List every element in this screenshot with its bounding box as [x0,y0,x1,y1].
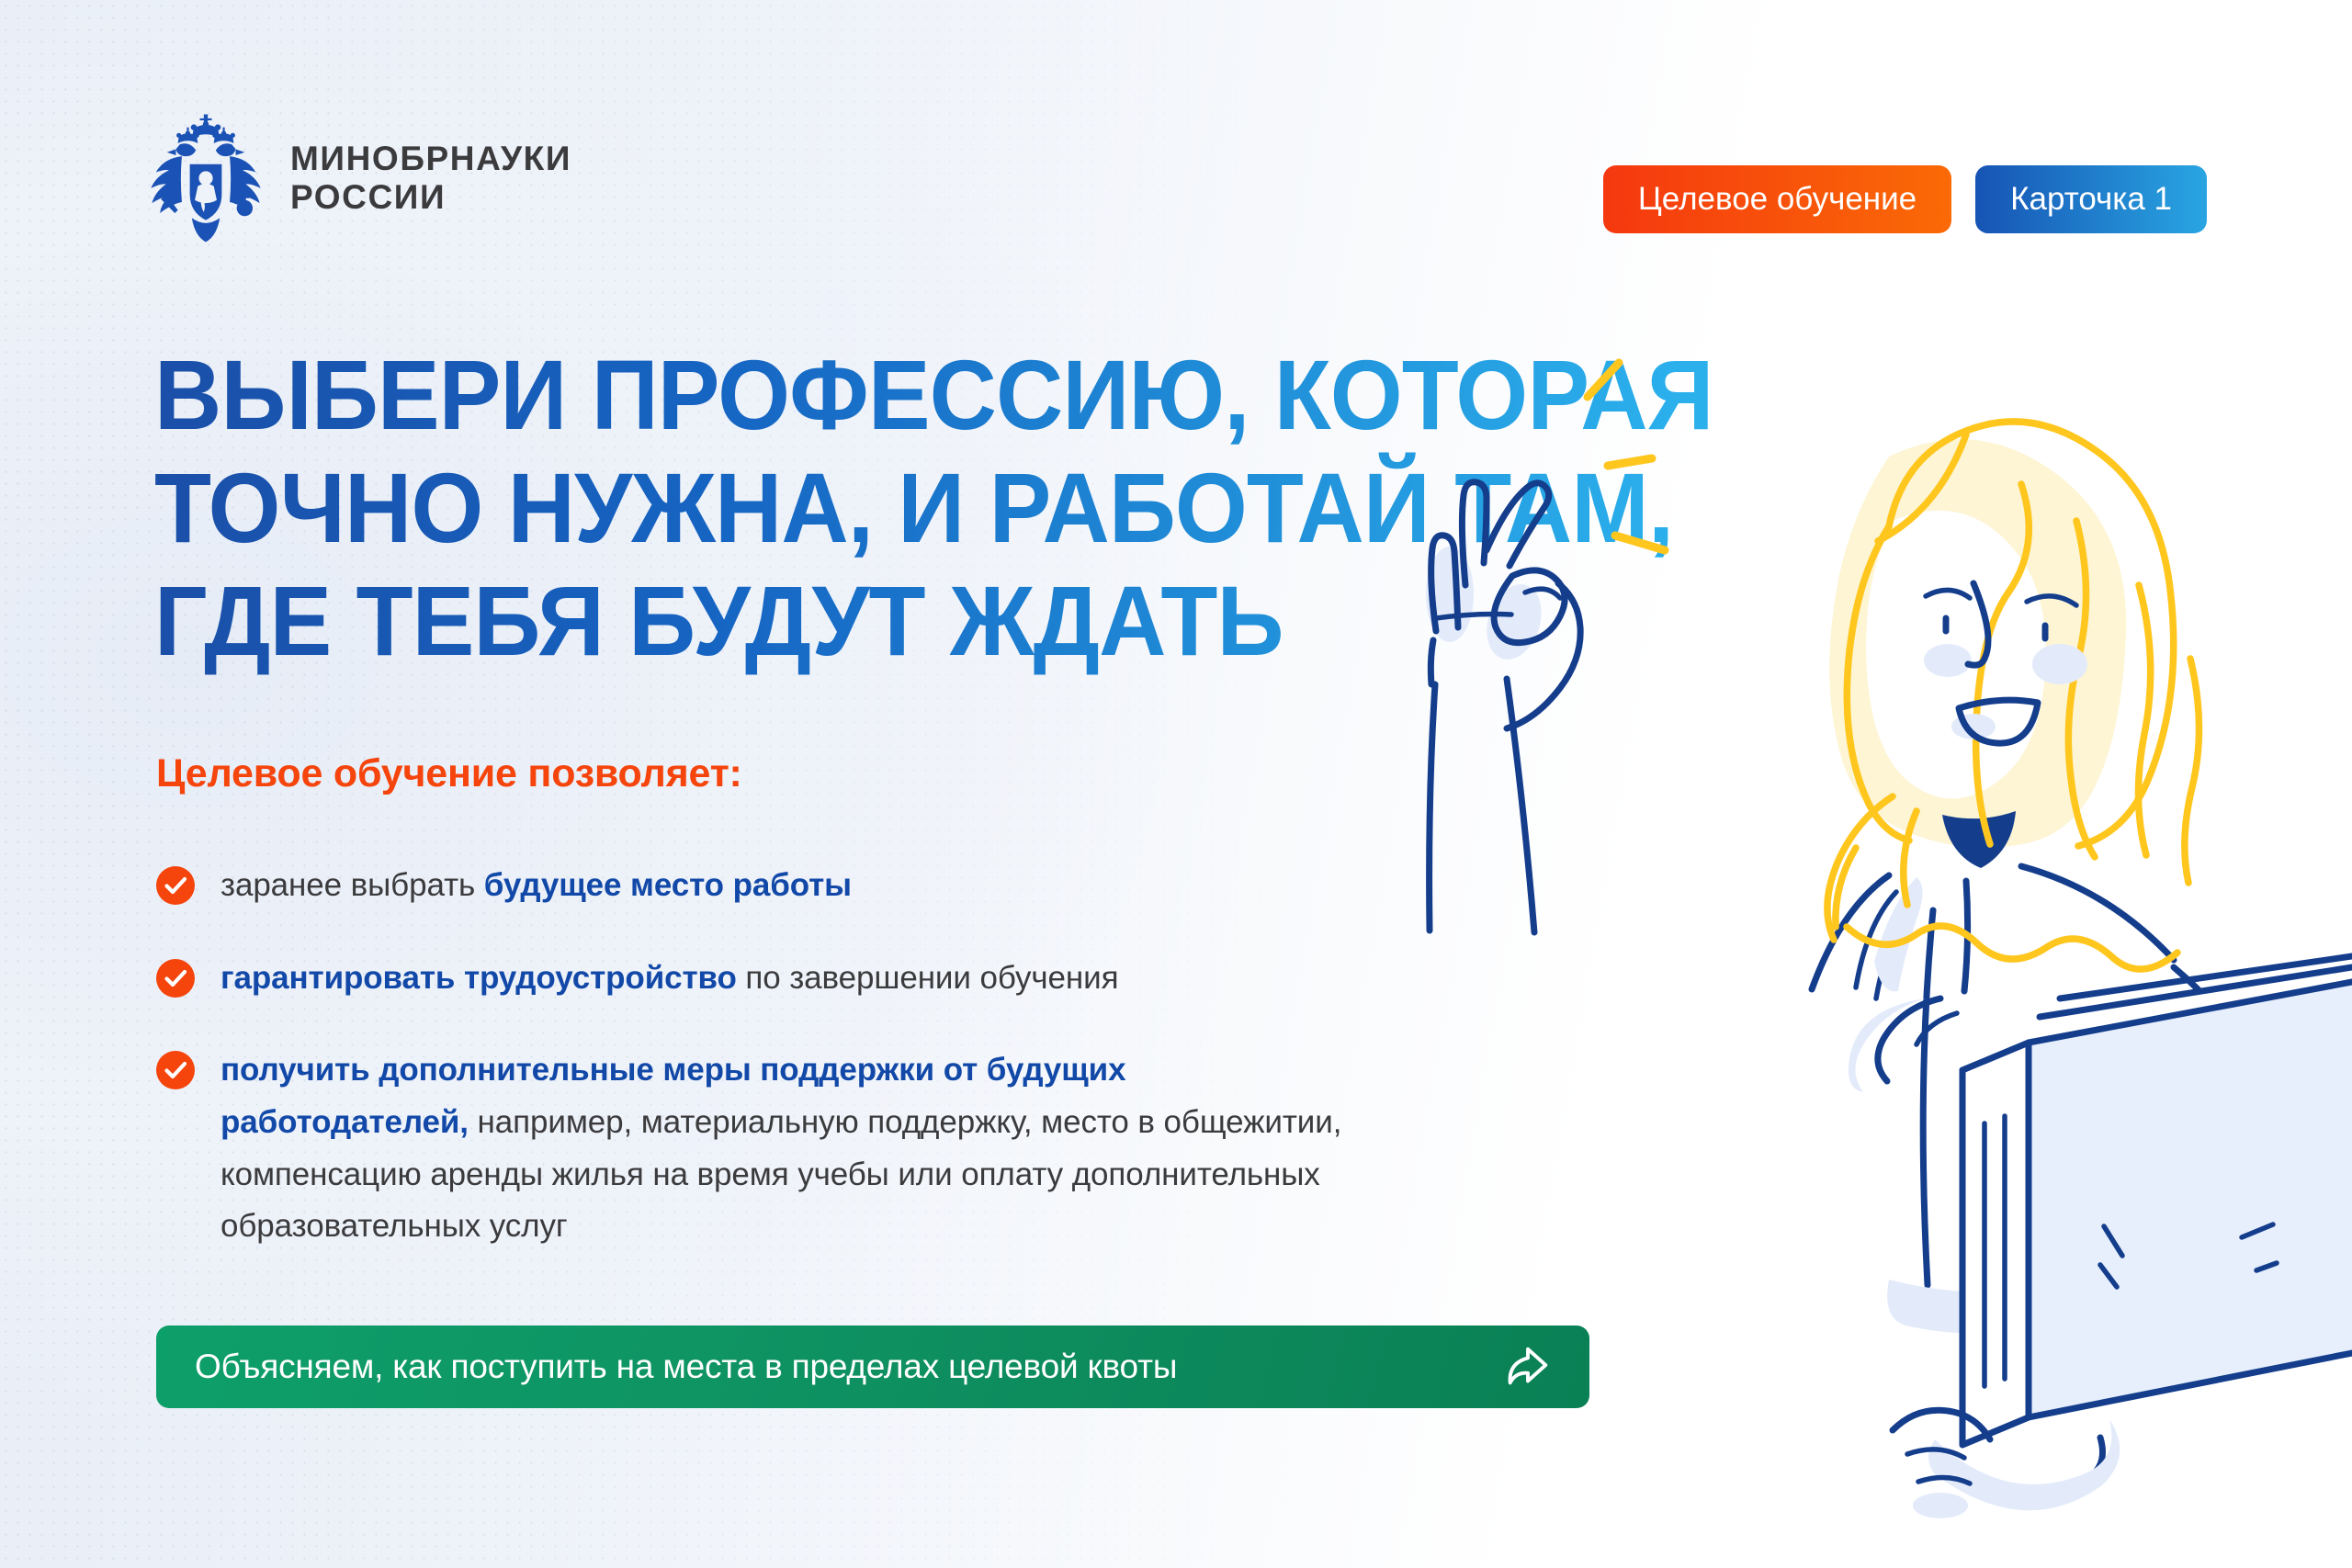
list-item: заранее выбрать будущее место работы [156,860,1351,912]
headline: ВЫБЕРИ ПРОФЕССИЮ, КОТОРАЯ ТОЧНО НУЖНА, И… [154,338,1992,677]
subheading: Целевое обучение позволяет: [156,751,742,796]
check-circle-icon [156,959,195,998]
list-item: гарантировать трудоустройство по заверше… [156,953,1351,1005]
ministry-name: МИНОБРНАУКИ РОССИИ [290,140,571,217]
badge-card-number-label: Карточка 1 [2010,181,2172,218]
list-item: получить дополнительные меры поддержки о… [156,1044,1351,1253]
cardboard-box [1962,956,2352,1445]
check-circle-icon [156,1051,195,1089]
badge-topic[interactable]: Целевое обучение [1603,165,1951,233]
torso-and-shirt [1732,811,2297,1568]
headline-line-2: ТОЧНО НУЖНА, И РАБОТАЙ ТАМ, [154,451,1882,564]
list-item-text-2: гарантировать трудоустройство по заверше… [220,953,1118,1005]
benefits-list: заранее выбрать будущее место работы гар… [156,860,1351,1293]
badge-card-number[interactable]: Карточка 1 [1975,165,2207,233]
infographic-poster: МИНОБРНАУКИ РОССИИ Целевое обучение Карт… [0,0,2352,1568]
badge-group: Целевое обучение Карточка 1 [1603,165,2207,233]
cta-button-label: Объясняем, как поступить на места в пред… [195,1348,1177,1386]
gripping-hand [1849,998,1957,1092]
list-item-text-3: получить дополнительные меры поддержки о… [220,1044,1351,1253]
badge-topic-label: Целевое обучение [1638,181,1917,218]
headline-line-1: ВЫБЕРИ ПРОФЕССИЮ, КОТОРАЯ [154,338,1882,451]
russian-double-headed-eagle-emblem [145,108,266,248]
share-arrow-icon [1501,1340,1555,1393]
cta-button[interactable]: Объясняем, как поступить на места в пред… [156,1325,1589,1408]
check-circle-icon [156,866,195,905]
ministry-logo-block: МИНОБРНАУКИ РОССИИ [145,108,571,248]
list-item-text-1: заранее выбрать будущее место работы [220,860,852,912]
headline-line-3: ГДЕ ТЕБЯ БУДУТ ЖДАТЬ [154,564,1882,677]
supporting-hand [1893,1410,1990,1518]
